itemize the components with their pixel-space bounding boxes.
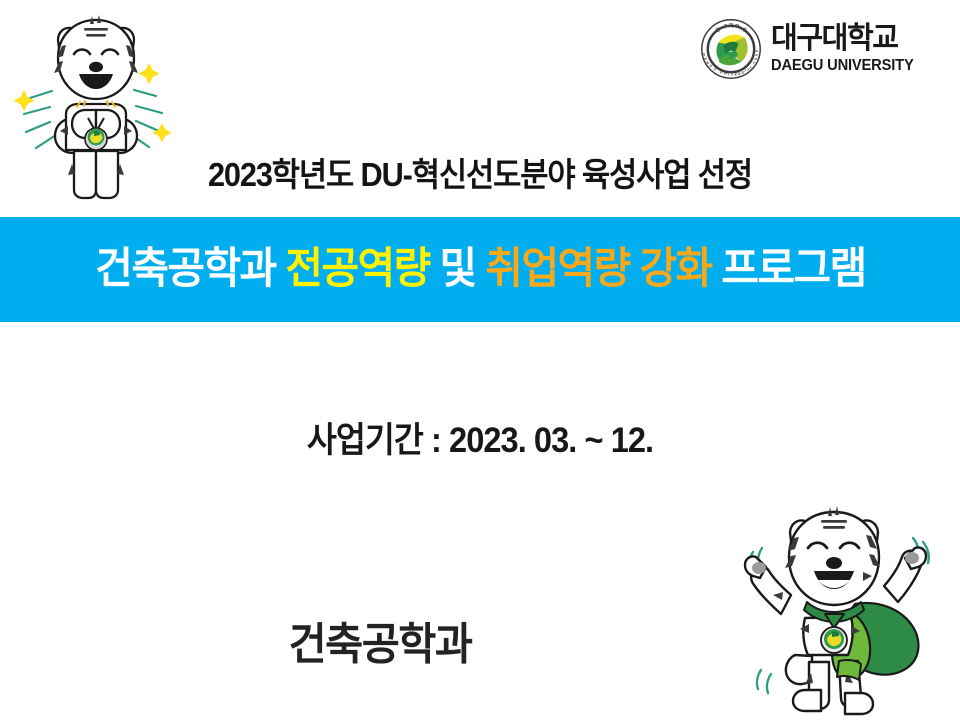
banner-segment-program: 프로그램 [711,245,865,293]
daegu-university-emblem-icon: 대 구 대 학 교 D A E G U U N I V E R S I T [700,18,762,80]
banner-segment-employment-competency: 취업역량 강화 [485,245,711,293]
poster-canvas: 대 구 대 학 교 D A E G U U N I V E R S I T [0,0,960,720]
white-tiger-mascot-cape-cheering [735,500,960,720]
page-eyebrow-title: 2023학년도 DU-혁신선도분야 육성사업 선정 [34,148,927,196]
svg-text:5: 5 [754,54,758,57]
program-title-text: 건축공학과 전공역량 및 취업역량 강화 프로그램 [95,248,865,291]
svg-text:A: A [703,56,708,61]
svg-text:D: D [702,52,707,56]
logo-english-name: DAEGU UNIVERSITY [771,58,914,74]
banner-segment-department: 건축공학과 [95,245,285,293]
svg-text:6: 6 [755,50,759,52]
program-title-banner: 건축공학과 전공역량 및 취업역량 강화 프로그램 [0,217,960,322]
svg-text:대: 대 [729,22,733,29]
project-period-text: 사업기간 : 2023. 03. ~ 12. [34,412,927,463]
svg-text:대: 대 [716,27,720,34]
svg-text:V: V [731,73,734,77]
daegu-university-logo: 대 구 대 학 교 D A E G U U N I V E R S I T [700,14,945,84]
logo-korean-name: 대구대학교 [771,24,898,54]
department-name-text: 건축공학과 [23,608,737,672]
logo-wordmark: 대구대학교 DAEGU UNIVERSITY [771,24,921,74]
banner-segment-conjunction: 및 [429,245,485,293]
banner-segment-major-competency: 전공역량 [285,245,429,293]
